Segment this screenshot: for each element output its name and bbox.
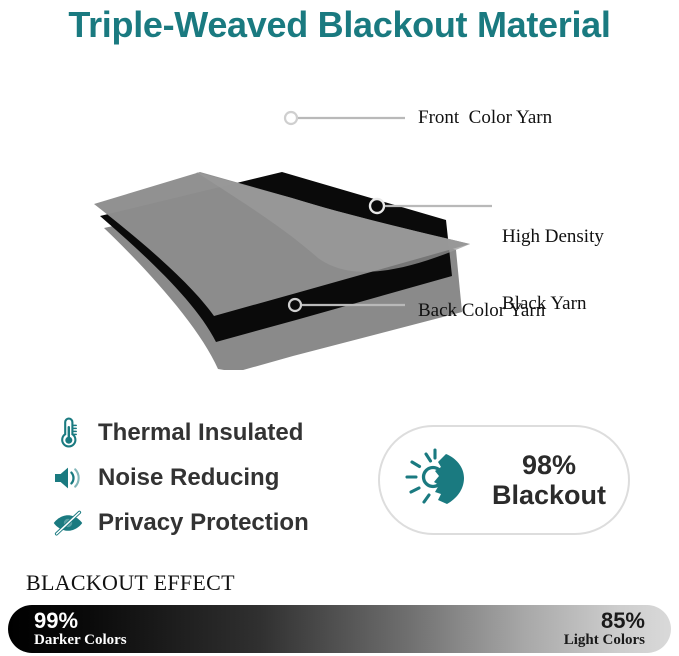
feature-item-noise-reducing: Noise Reducing	[48, 455, 368, 500]
effect-light-caption: Light Colors	[564, 632, 645, 649]
badge-caption: Blackout	[492, 480, 606, 510]
effect-darker-colors: 99% Darker Colors	[34, 609, 127, 649]
feature-item-privacy-protection: Privacy Protection	[48, 500, 368, 545]
product-infographic: Triple-Weaved Blackout Material	[0, 0, 679, 656]
blackout-effect-gradient-bar: 99% Darker Colors 85% Light Colors	[8, 605, 671, 653]
callout-label-back-color-yarn: Back Color Yarn	[418, 300, 545, 322]
effect-light-percent: 85%	[564, 609, 645, 632]
badge-percent: 98%	[492, 450, 606, 480]
feature-list: Thermal Insulated Noise Reducing	[48, 410, 368, 545]
page-title: Triple-Weaved Blackout Material	[0, 4, 679, 46]
badge-text: 98% Blackout	[492, 450, 606, 510]
feature-label-privacy-protection: Privacy Protection	[98, 509, 309, 537]
blackout-percentage-badge: 98% Blackout	[378, 425, 630, 535]
callout-front-color-yarn	[285, 112, 405, 124]
callout-label-front-color-yarn: Front Color Yarn	[418, 107, 552, 129]
speaker-sound-icon	[48, 458, 88, 498]
blackout-effect-heading: BLACKOUT EFFECT	[26, 570, 235, 596]
feature-label-noise-reducing: Noise Reducing	[98, 464, 279, 492]
eye-slash-icon	[48, 503, 88, 543]
callout-label-high-density-black-yarn: High Density Black Yarn	[502, 181, 604, 360]
callout-label-line1: High Density	[502, 226, 604, 248]
sun-blocked-by-curtain-icon	[402, 444, 480, 516]
effect-light-colors: 85% Light Colors	[564, 609, 645, 649]
feature-item-thermal-insulated: Thermal Insulated	[48, 410, 368, 455]
effect-darker-percent: 99%	[34, 609, 127, 632]
effect-darker-caption: Darker Colors	[34, 632, 127, 649]
feature-label-thermal-insulated: Thermal Insulated	[98, 419, 303, 447]
thermometer-icon	[48, 413, 88, 453]
